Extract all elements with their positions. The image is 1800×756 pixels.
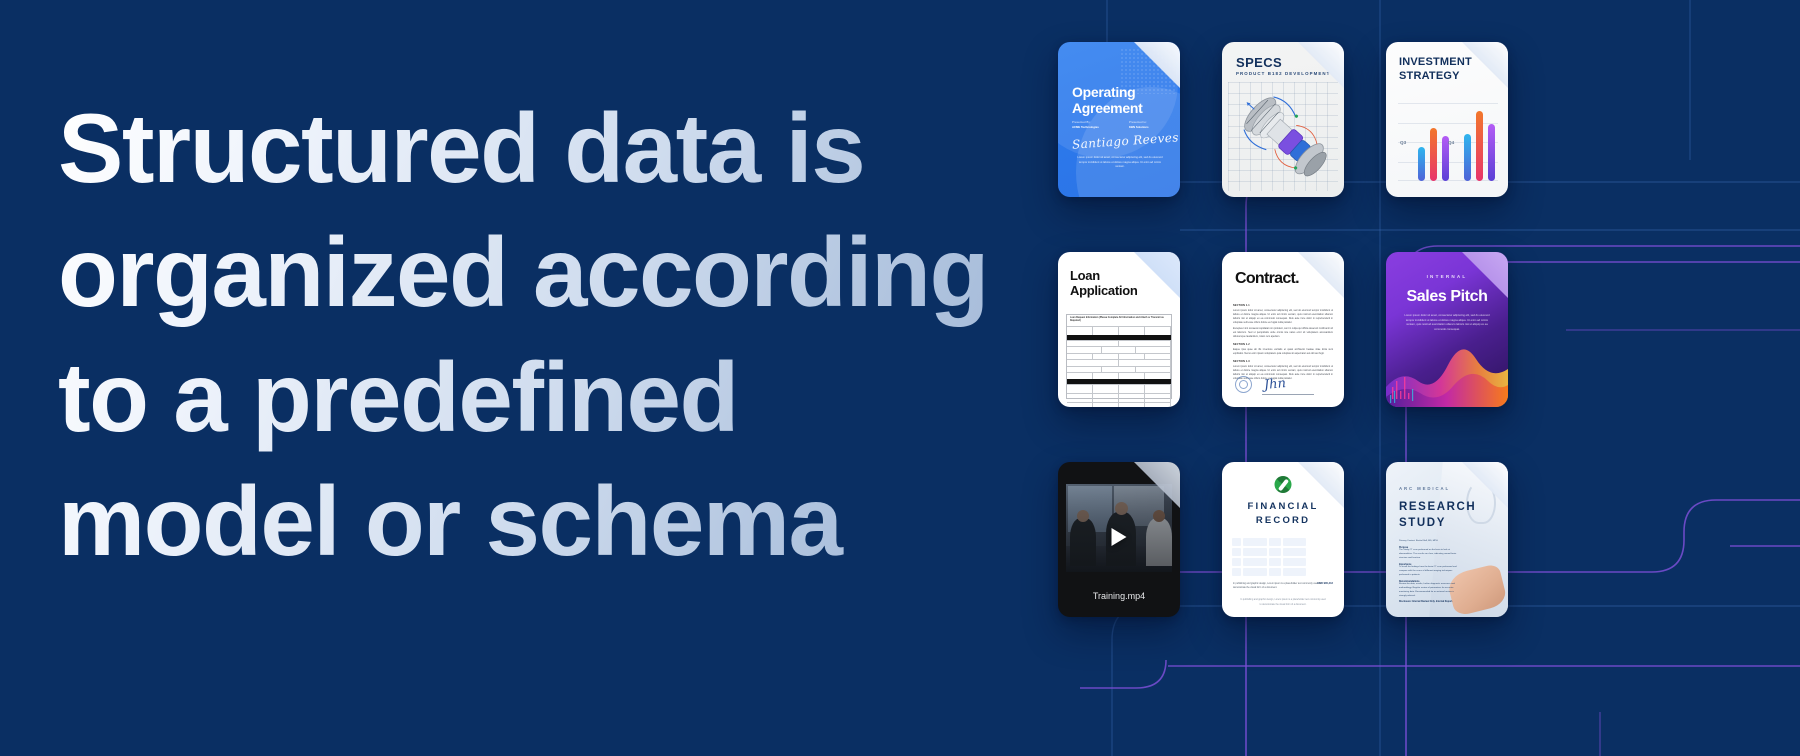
title-line: Loan [1070, 268, 1100, 283]
presented-block: Presented By: ACME Technologies Presente… [1072, 120, 1172, 129]
title-line: INVESTMENT [1399, 56, 1472, 68]
card-training-video[interactable]: Training.mp4 [1058, 462, 1180, 617]
card-title: FINANCIAL RECORD [1222, 500, 1344, 529]
card-kicker: ARC MEDICAL [1399, 486, 1450, 491]
hero-section: Structured data is organized according t… [0, 0, 1800, 756]
card-body-text: Lorem ipsum dolor sit amet, consectetur … [1074, 156, 1166, 170]
play-icon[interactable] [1112, 528, 1127, 546]
card-contract[interactable]: Contract. SECTION 1.1 Lorem ipsum dolor … [1222, 252, 1344, 407]
notary-seal-icon [1235, 376, 1252, 393]
axis-tick-q4: Q4 [1448, 140, 1454, 145]
bar-group-q4 [1464, 100, 1495, 181]
bar-q4-series-c [1488, 124, 1495, 181]
title-line: Agreement [1072, 100, 1142, 116]
record-total: USD 900,412 [1317, 582, 1333, 585]
card-investment-strategy[interactable]: INVESTMENT STRATEGY Q3 Q4 [1386, 42, 1508, 197]
signature-line [1262, 394, 1314, 395]
table-row [1232, 548, 1334, 556]
title-line: STRATEGY [1399, 70, 1460, 82]
card-title: Contract. [1235, 270, 1299, 288]
card-title: INVESTMENT STRATEGY [1399, 56, 1472, 84]
presented-by-label: Presented By: [1072, 120, 1115, 124]
table-row [1232, 538, 1334, 546]
card-financial-record[interactable]: FINANCIAL RECORD In publishing and graph… [1222, 462, 1344, 617]
card-sales-pitch[interactable]: INTERNAL Sales Pitch Lorem ipsum dolor s… [1386, 252, 1508, 407]
section-heading: SECTION 1.2 [1233, 343, 1333, 346]
bar-q3-series-b [1430, 128, 1437, 181]
headline-line-3: to a predefined [58, 335, 998, 459]
study-body: Primary Contact: Rachel Bell, MD, MPH Pu… [1399, 540, 1461, 603]
document-card-grid: Operating Agreement Presented By: ACME T… [1050, 0, 1800, 756]
title-line: RESEARCH [1399, 501, 1476, 513]
headline-line-1: Structured data is [58, 86, 998, 210]
section-text: Review the data, results, further diagno… [1399, 583, 1461, 599]
signature: Jhn [1263, 376, 1286, 393]
card-title: RESEARCH STUDY [1399, 500, 1476, 531]
bar-q3-series-a [1418, 147, 1425, 181]
contract-body: SECTION 1.1 Lorem ipsum dolor sit amet, … [1233, 300, 1333, 383]
presented-to-value: KBN Solutions [1129, 125, 1172, 129]
card-operating-agreement[interactable]: Operating Agreement Presented By: ACME T… [1058, 42, 1180, 197]
wave-visualization [1386, 335, 1508, 407]
bar-q4-series-b [1476, 111, 1483, 181]
company-logo-icon [1275, 476, 1292, 493]
headline-line-4: model or schema [58, 459, 998, 583]
title-line: FINANCIAL [1248, 501, 1319, 512]
study-meta: Primary Contact: Rachel Bell, MD, MPH [1399, 540, 1461, 544]
table-row [1232, 558, 1334, 566]
turbine-assembly-illustration [1230, 80, 1338, 192]
card-research-study[interactable]: ARC MEDICAL RESEARCH STUDY Primary Conta… [1386, 462, 1508, 617]
title-line: RECORD [1256, 515, 1310, 526]
section-text: To recall the findings from the brain CT… [1399, 566, 1461, 578]
card-title: SPECS [1236, 55, 1282, 70]
form-table: Loan Request Information (Please Complet… [1066, 314, 1172, 399]
card-title: Loan Application [1070, 268, 1137, 298]
card-body-text: Lorem ipsum dolor sit amet, consectetur … [1402, 314, 1492, 333]
card-title: Operating Agreement [1072, 84, 1142, 116]
section-text: The Study CT scan performed on the brain… [1399, 549, 1461, 561]
video-filename: Training.mp4 [1058, 591, 1180, 601]
title-line: STUDY [1399, 517, 1446, 529]
presented-by-value: ACME Technologies [1072, 125, 1115, 129]
form-intro: Loan Request Information (Please Complet… [1067, 315, 1171, 326]
axis-tick-q3: Q3 [1400, 140, 1406, 145]
card-specs[interactable]: SPECS PRODUCT B182 DEVELOPMENT [1222, 42, 1344, 197]
presented-to-label: Presented to: [1129, 120, 1172, 124]
study-disclosure: Disclosure: Internal Review Only. Intern… [1399, 601, 1461, 603]
bar-group-q3 [1418, 100, 1449, 181]
card-subtitle: PRODUCT B182 DEVELOPMENT [1236, 71, 1330, 76]
section-heading: SECTION 1.3 [1233, 360, 1333, 363]
card-loan-application[interactable]: Loan Application Loan Request Informatio… [1058, 252, 1180, 407]
record-table [1232, 538, 1334, 578]
paragraph: Excepteur sint occaecat cupidatat non pr… [1233, 327, 1333, 339]
paragraph: Lorem ipsum dolor sit amet, consectetur … [1233, 309, 1333, 326]
bar-q4-series-a [1464, 134, 1471, 181]
table-row [1232, 568, 1334, 576]
page-title: Structured data is organized according t… [58, 86, 998, 584]
section-heading: SECTION 1.1 [1233, 304, 1333, 307]
paragraph: Eaque ipsa quae ab illo inventore verita… [1233, 348, 1333, 356]
record-footer: In publishing and graphic design, Lorem … [1240, 598, 1326, 607]
title-line: Operating [1072, 84, 1135, 100]
bar-chart: Q3 Q4 [1398, 100, 1498, 181]
title-line: Application [1070, 283, 1137, 298]
page-fold-corner [1134, 252, 1180, 298]
card-title: Sales Pitch [1386, 288, 1508, 306]
page-fold-corner [1298, 252, 1344, 298]
headline-line-2: organized according [58, 210, 998, 334]
